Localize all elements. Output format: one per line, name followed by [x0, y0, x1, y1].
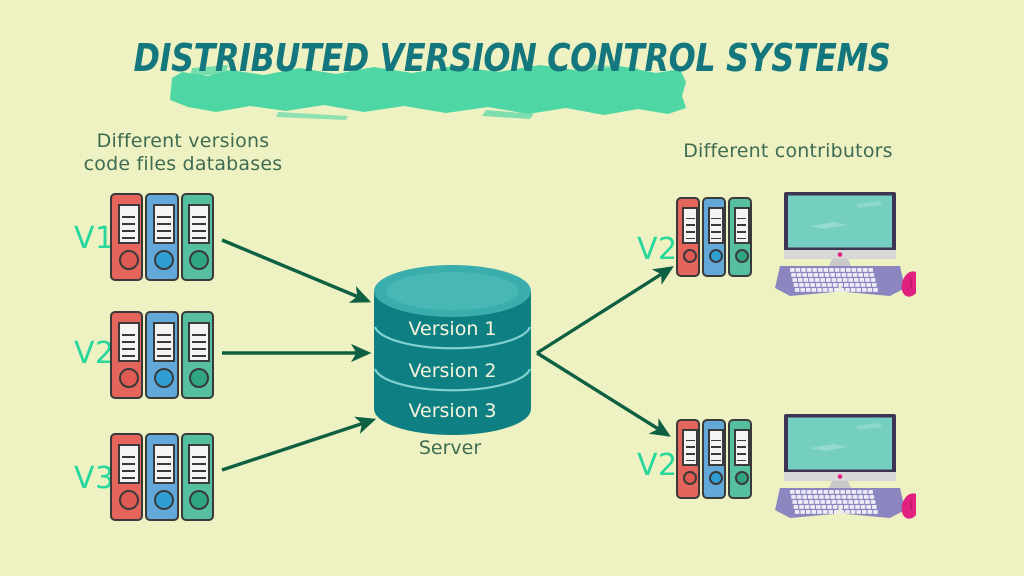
arrow-server-to-contributor-2 [537, 353, 668, 435]
arrow-v1-to-server [222, 240, 368, 301]
arrow-server-to-contributor-1 [537, 268, 671, 353]
diagram-canvas: DISTRIBUTED VERSION CONTROL SYSTEMS Diff… [0, 0, 1024, 576]
arrows-group [0, 0, 1024, 576]
arrow-v3-to-server [222, 420, 373, 470]
